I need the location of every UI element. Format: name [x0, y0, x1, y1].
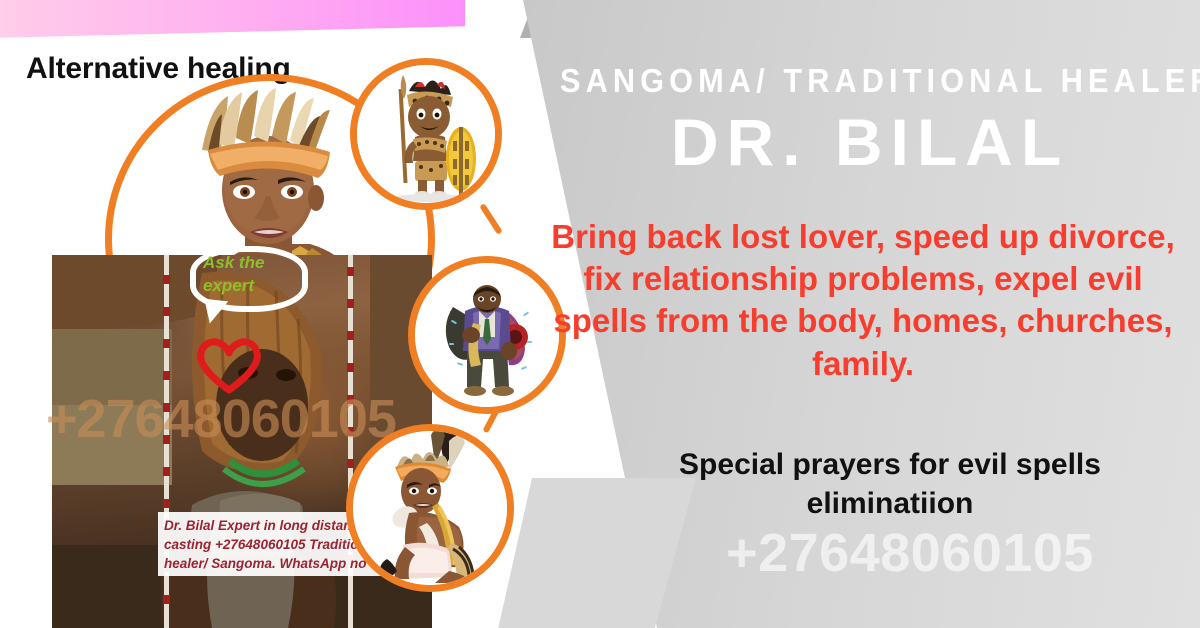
services-text: Bring back lost lover, speed up divorce,… [544, 216, 1182, 385]
kicker-text: SANGOMA/ TRADITIONAL HEALER [560, 62, 1137, 100]
subheading-text: Special prayers for evil spells eliminat… [600, 445, 1180, 523]
red-heart-outline [195, 335, 263, 395]
contact-phone: +27648060105 [620, 522, 1200, 584]
healer-name: DR. BILAL [560, 104, 1180, 180]
zulu-warrior-illustration [350, 58, 502, 210]
promotional-poster: Alternative healing [0, 0, 1200, 628]
kneeling-sangoma-illustration [346, 424, 514, 592]
top-band-pink [0, 0, 465, 38]
speech-bubble-tail [202, 299, 228, 325]
cloaked-healer-illustration [408, 256, 566, 414]
speech-bubble-label: Ask the expert [203, 252, 303, 298]
caption-line-3: healer/ Sangoma. WhatsApp no [164, 554, 392, 573]
connector-tick-upper [479, 203, 503, 235]
